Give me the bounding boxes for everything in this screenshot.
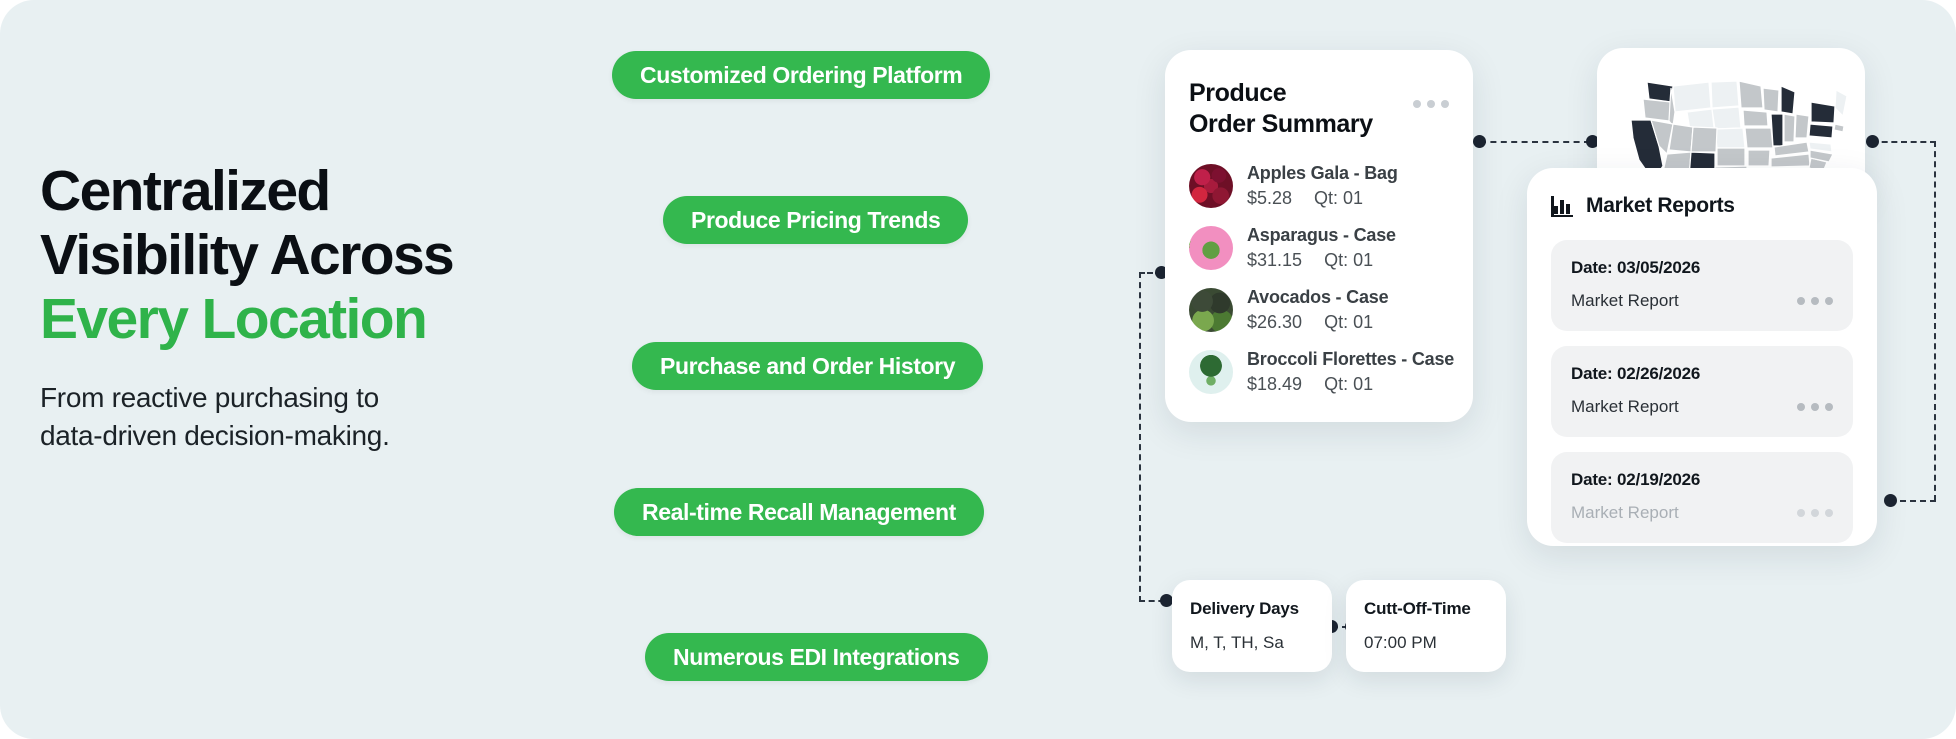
product-meta: Apples Gala - Bag $5.28 Qt: 01 xyxy=(1247,163,1398,209)
cutoff-time-card[interactable]: Cutt-Off-Time 07:00 PM xyxy=(1346,580,1506,672)
apples-thumbnail xyxy=(1189,164,1233,208)
menu-dot xyxy=(1811,297,1819,305)
headline-accent: Every Location xyxy=(40,288,600,352)
list-item[interactable]: Avocados - Case $26.30 Qt: 01 xyxy=(1189,287,1449,333)
product-price-row: $5.28 Qt: 01 xyxy=(1247,188,1398,209)
report-row: Market Report xyxy=(1571,503,1833,523)
dots-menu-icon[interactable] xyxy=(1797,297,1833,305)
menu-dot xyxy=(1797,297,1805,305)
connector-dot-order-right xyxy=(1473,135,1486,148)
product-price: $18.49 xyxy=(1247,374,1302,395)
page-title: Centralized Visibility Across Every Loca… xyxy=(40,160,600,351)
kebab-dot xyxy=(1427,100,1435,108)
cutoff-time-value: 07:00 PM xyxy=(1364,633,1488,653)
report-row: Market Report xyxy=(1571,397,1833,417)
product-qty: Qt: 01 xyxy=(1314,188,1363,209)
product-price-row: $26.30 Qt: 01 xyxy=(1247,312,1388,333)
kebab-menu-icon[interactable] xyxy=(1413,78,1449,108)
hero-section: Centralized Visibility Across Every Loca… xyxy=(0,0,1956,739)
menu-dot xyxy=(1825,509,1833,517)
menu-dot xyxy=(1825,403,1833,411)
delivery-days-title: Delivery Days xyxy=(1190,599,1314,619)
product-qty: Qt: 01 xyxy=(1324,312,1373,333)
product-price: $26.30 xyxy=(1247,312,1302,333)
connector-left-spine xyxy=(1139,272,1141,602)
subcopy-line-2: data-driven decision-making. xyxy=(40,420,390,451)
product-price: $5.28 xyxy=(1247,188,1292,209)
report-date: Date: 02/26/2026 xyxy=(1571,364,1833,384)
connector-dot-map-right xyxy=(1866,135,1879,148)
product-qty: Qt: 01 xyxy=(1324,374,1373,395)
product-name: Asparagus - Case xyxy=(1247,225,1396,246)
report-label: Market Report xyxy=(1571,503,1679,523)
menu-dot xyxy=(1797,403,1805,411)
menu-dot xyxy=(1797,509,1805,517)
subcopy-line-1: From reactive purchasing to xyxy=(40,382,379,413)
avocados-thumbnail xyxy=(1189,288,1233,332)
feature-pill-produce-pricing-trends[interactable]: Produce Pricing Trends xyxy=(663,196,968,244)
list-item[interactable]: Date: 02/19/2026 Market Report xyxy=(1551,452,1853,543)
order-card-title-line-2: Order Summary xyxy=(1189,110,1373,138)
market-reports-card[interactable]: Market Reports Date: 03/05/2026 Market R… xyxy=(1527,168,1877,546)
kebab-dot xyxy=(1441,100,1449,108)
headline-line-2: Visibility Across xyxy=(40,223,453,287)
market-reports-title: Market Reports xyxy=(1586,194,1735,218)
bar-chart-bar xyxy=(1566,204,1570,214)
menu-dot xyxy=(1825,297,1833,305)
product-qty: Qt: 01 xyxy=(1324,250,1373,271)
produce-order-summary-card[interactable]: Produce Order Summary Apples Gala - Bag … xyxy=(1165,50,1473,422)
product-price-row: $31.15 Qt: 01 xyxy=(1247,250,1396,271)
connector-dot-reports-right xyxy=(1884,494,1897,507)
dots-menu-icon[interactable] xyxy=(1797,509,1833,517)
report-label: Market Report xyxy=(1571,291,1679,311)
connector-order-to-map xyxy=(1480,141,1590,143)
report-row: Market Report xyxy=(1571,291,1833,311)
broccoli-thumbnail xyxy=(1189,350,1233,394)
order-card-header: Produce Order Summary xyxy=(1189,78,1449,141)
report-label: Market Report xyxy=(1571,397,1679,417)
bar-chart-bar xyxy=(1554,206,1558,214)
list-item[interactable]: Apples Gala - Bag $5.28 Qt: 01 xyxy=(1189,163,1449,209)
product-meta: Avocados - Case $26.30 Qt: 01 xyxy=(1247,287,1388,333)
order-card-title-line-1: Produce xyxy=(1189,79,1286,107)
connector-right-spine xyxy=(1934,141,1936,501)
menu-dot xyxy=(1811,509,1819,517)
bar-chart-axis-horizontal xyxy=(1551,215,1573,218)
dots-menu-icon[interactable] xyxy=(1797,403,1833,411)
market-reports-list: Date: 03/05/2026 Market Report Date: 02/… xyxy=(1551,240,1853,543)
list-item[interactable]: Asparagus - Case $31.15 Qt: 01 xyxy=(1189,225,1449,271)
product-price: $31.15 xyxy=(1247,250,1302,271)
feature-pill-customized-ordering-platform[interactable]: Customized Ordering Platform xyxy=(612,51,990,99)
product-list: Apples Gala - Bag $5.28 Qt: 01 Asparagus… xyxy=(1189,163,1449,395)
feature-pill-realtime-recall-management[interactable]: Real-time Recall Management xyxy=(614,488,984,536)
cutoff-time-title: Cutt-Off-Time xyxy=(1364,599,1488,619)
asparagus-thumbnail xyxy=(1189,226,1233,270)
market-reports-header: Market Reports xyxy=(1551,194,1853,218)
product-name: Avocados - Case xyxy=(1247,287,1388,308)
report-date: Date: 03/05/2026 xyxy=(1571,258,1833,278)
hero-subcopy: From reactive purchasing to data-driven … xyxy=(40,379,600,455)
list-item[interactable]: Date: 03/05/2026 Market Report xyxy=(1551,240,1853,331)
order-card-title: Produce Order Summary xyxy=(1189,78,1373,141)
product-name: Broccoli Florettes - Case xyxy=(1247,349,1454,370)
kebab-dot xyxy=(1413,100,1421,108)
feature-pill-numerous-edi-integrations[interactable]: Numerous EDI Integrations xyxy=(645,633,988,681)
headline-line-1: Centralized xyxy=(40,159,330,223)
menu-dot xyxy=(1811,403,1819,411)
product-price-row: $18.49 Qt: 01 xyxy=(1247,374,1454,395)
product-meta: Asparagus - Case $31.15 Qt: 01 xyxy=(1247,225,1396,271)
product-name: Apples Gala - Bag xyxy=(1247,163,1398,184)
bar-chart-bar xyxy=(1560,200,1564,214)
connector-map-right xyxy=(1872,141,1936,143)
delivery-days-card[interactable]: Delivery Days M, T, TH, Sa xyxy=(1172,580,1332,672)
feature-pill-purchase-and-order-history[interactable]: Purchase and Order History xyxy=(632,342,983,390)
product-meta: Broccoli Florettes - Case $18.49 Qt: 01 xyxy=(1247,349,1454,395)
bar-chart-icon xyxy=(1551,195,1573,217)
list-item[interactable]: Broccoli Florettes - Case $18.49 Qt: 01 xyxy=(1189,349,1449,395)
report-date: Date: 02/19/2026 xyxy=(1571,470,1833,490)
delivery-days-value: M, T, TH, Sa xyxy=(1190,633,1314,653)
hero-copy: Centralized Visibility Across Every Loca… xyxy=(40,160,600,455)
list-item[interactable]: Date: 02/26/2026 Market Report xyxy=(1551,346,1853,437)
